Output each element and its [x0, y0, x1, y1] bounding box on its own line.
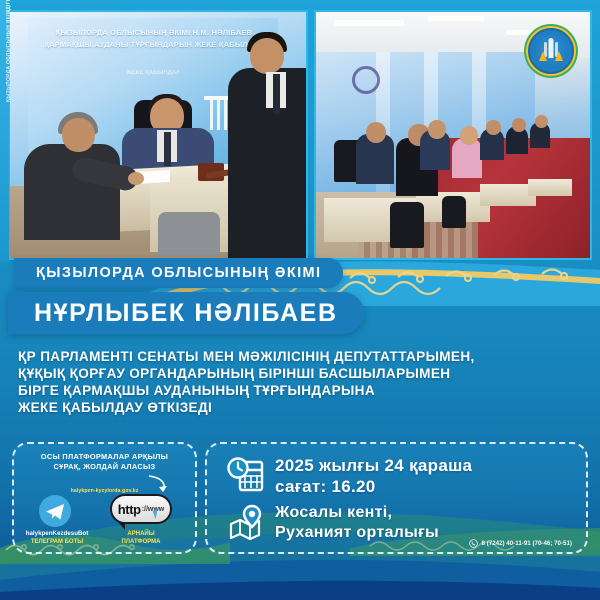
event-date-line-1: 2025 жылғы 24 қараша [275, 455, 472, 476]
region-akim-title-text: ҚЫЗЫЛОРДА ОБЛЫСЫНЫҢ ӘКІМІ [36, 265, 321, 281]
announcement-body: ҚР ПАРЛАМЕНТІ СЕНАТЫ МЕН МӘЖІЛІСІНІҢ ДЕП… [18, 348, 588, 416]
rocket-icon [549, 38, 554, 58]
akim-name-text: НҰРЛЫБЕК НӘЛІБАЕВ [34, 299, 338, 328]
poster-canvas: ҚЫЗЫЛОРДА ОБЛЫСЫНЫҢ ӘКІМІ Н.М. НӘЛІБАЕВ … [0, 0, 600, 600]
event-place-text: Жосалы кенті, Руханият орталығы [275, 502, 439, 543]
platform-card-heading: ОСЫ ПЛАТФОРМАЛАР АРҚЫЛЫ СҰРАҚ, ЖОЛДАЙ АЛ… [14, 452, 195, 472]
telegram-bot-handle: halykpenKezdesuBot [18, 530, 96, 538]
official-tie [164, 132, 171, 166]
edge-strip-caption: ҚЫЗЫЛОРДА ОБЛЫСЫНЫҢ ӘКІМДІГІ [6, 16, 12, 102]
hall-person-head [366, 122, 386, 143]
event-time-line: сағат: 16.20 [275, 476, 472, 497]
contact-phone[interactable]: 8 (7242) 40-11-91 (70-46; 70-51) [469, 539, 572, 548]
visitor-head [62, 118, 95, 152]
announcement-line-3: БІРГЕ ҚАРМАҚШЫ АУДАНЫНЫҢ ТҰРҒЫНДАРЫНА [18, 382, 588, 399]
announcement-line-4: ЖЕКЕ ҚАБЫЛДАУ ӨТКІЗЕДІ [18, 399, 588, 416]
hall-chair [390, 202, 424, 248]
platform-label-line-1: АРНАЙЫ [108, 530, 174, 538]
left-edge-strip: ҚЫЗЫЛОРДА ОБЛЫСЫНЫҢ ӘКІМДІГІ [0, 0, 9, 262]
curved-arrow-icon [147, 474, 169, 494]
event-date-row: 2025 жылғы 24 қараша сағат: 16.20 [225, 454, 472, 497]
ceiling-lamp [428, 16, 484, 21]
hall-chair [442, 196, 466, 228]
photo-meeting-office: ҚЫЗЫЛОРДА ОБЛЫСЫНЫҢ ӘКІМІ Н.М. НӘЛІБАЕВ … [8, 10, 308, 260]
contact-phone-number: 8 (7242) 40-11-91 (70-46; 70-51) [482, 540, 572, 547]
announcement-line-1: ҚР ПАРЛАМЕНТІ СЕНАТЫ МЕН МӘЖІЛІСІНІҢ ДЕП… [18, 348, 588, 365]
special-platform-label: АРНАЙЫ ПЛАТФОРМА [108, 530, 174, 546]
telegram-bot-label: halykpenKezdesuBot ТЕЛЕГРАМ БОТЫ [18, 530, 96, 546]
event-place-line-2: Руханият орталығы [275, 523, 439, 543]
visitor-chair [158, 212, 220, 256]
event-date-text: 2025 жылғы 24 қараша сағат: 16.20 [275, 454, 472, 497]
screen-headline-1: ҚЫЗЫЛОРДА ОБЛЫСЫНЫҢ ӘКІМІ Н.М. НӘЛІБАЕВ [36, 28, 272, 37]
telegram-icon[interactable] [38, 494, 72, 528]
photo-strip: ҚЫЗЫЛОРДА ОБЛЫСЫНЫҢ ӘКІМІ Н.М. НӘЛІБАЕВ … [8, 10, 592, 260]
reception-desk [528, 179, 572, 196]
announcement-line-2: ҚҰҚЫҚ ҚОРҒАУ ОРГАНДАРЫНЫҢ БІРІНШІ БАСШЫЛ… [18, 365, 588, 382]
ceiling-lamp [334, 20, 404, 26]
visitor-body [24, 144, 120, 240]
hall-person-head [460, 126, 478, 145]
emblem-inner-disc [534, 34, 568, 68]
standing-man-tie [273, 74, 280, 114]
event-place-line-1: Жосалы кенті, [275, 503, 439, 523]
region-akim-title-bar: ҚЫЗЫЛОРДА ОБЛЫСЫНЫҢ ӘКІМІ [14, 258, 343, 288]
phone-icon [469, 539, 478, 548]
hall-person-head [535, 115, 548, 128]
visitor-hand [128, 172, 144, 185]
platform-info-card: ОСЫ ПЛАТФОРМАЛАР АРҚЫЛЫ СҰРАҚ, ЖОЛДАЙ АЛ… [12, 442, 197, 554]
hall-person-head [512, 118, 526, 132]
backdrop-emblem [352, 66, 380, 94]
event-place-row: Жосалы кенті, Руханият орталығы [225, 502, 439, 543]
platform-label-line-2: ПЛАТФОРМА [108, 538, 174, 546]
flame-left-icon [539, 51, 547, 61]
standing-man-head [250, 38, 284, 74]
photo-reception-hall [314, 10, 592, 260]
akim-name-bar: НҰРЛЫБЕК НӘЛІБАЕВ [8, 292, 364, 334]
hall-person-head [486, 120, 501, 135]
platform-heading-line-2: СҰРАҚ, ЖОЛДАЙ АЛАСЫЗ [14, 462, 195, 472]
flame-right-icon [555, 51, 563, 61]
calendar-clock-icon [225, 454, 265, 494]
platform-heading-line-1: ОСЫ ПЛАТФОРМАЛАР АРҚЫЛЫ [14, 452, 195, 462]
web-platform-badge[interactable]: http ://www [110, 494, 172, 524]
hall-person-head [428, 120, 446, 139]
http-text: http [118, 502, 141, 517]
telegram-bot-caption: ТЕЛЕГРАМ БОТЫ [18, 538, 96, 546]
event-details-card: 2025 жылғы 24 қараша сағат: 16.20 Жосалы… [205, 442, 588, 554]
kyzylorda-region-emblem [528, 28, 574, 74]
map-pin-icon [225, 502, 265, 542]
screen-headline-2: ҚАРМАҚШЫ АУДАНЫ ТҰРҒЫНДАРЫН ЖЕКЕ ҚАБЫЛДА… [36, 40, 272, 49]
speech-bubble-tail [118, 522, 125, 530]
